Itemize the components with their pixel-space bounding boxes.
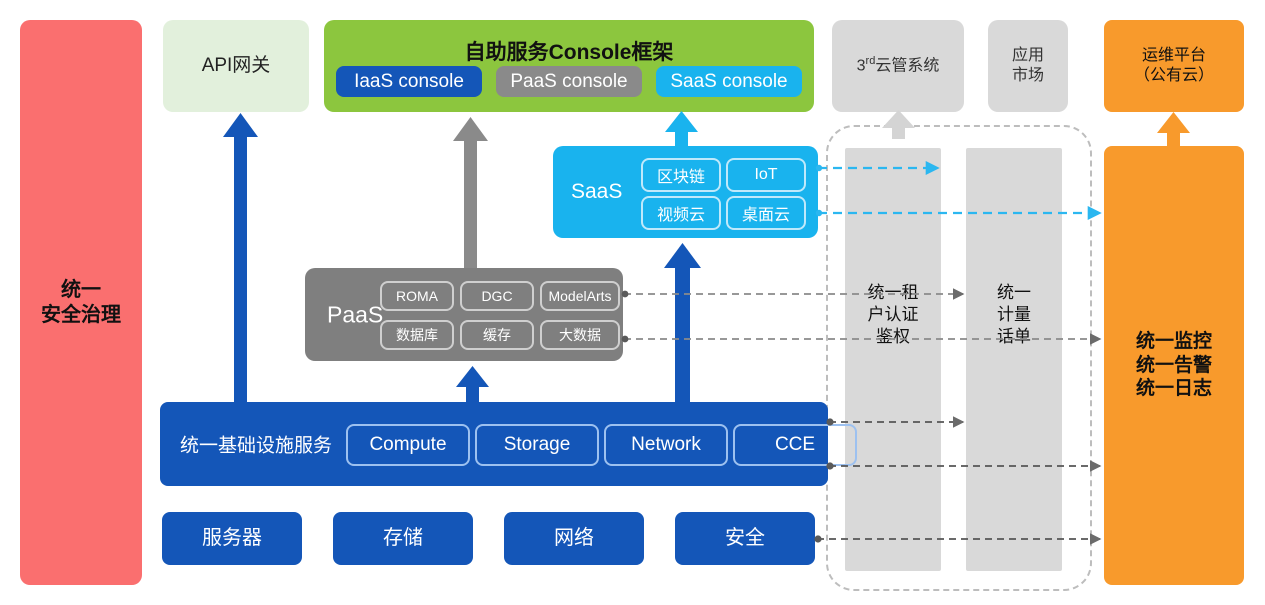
middle-column-metering-billing (966, 148, 1062, 571)
middle-column-metering-billing-label: 统一 计量 话单 (966, 282, 1062, 348)
ops-monitoring-line3: 统一日志 (1136, 377, 1212, 401)
iaas-item-network: Network (604, 424, 728, 466)
paas-item-cache: 缓存 (460, 320, 534, 350)
ops-platform-line1: 运维平台 (1142, 46, 1206, 66)
external-app-market-line2: 市场 (1012, 66, 1044, 86)
ops-monitoring-line2: 统一告警 (1136, 354, 1212, 378)
iaas-item-compute: Compute (346, 424, 470, 466)
hardware-server: 服务器 (162, 512, 302, 565)
ops-platform-box: 运维平台 （公有云） (1104, 20, 1244, 112)
metering-line1: 统一 (966, 282, 1062, 304)
self-service-console-frame: 自助服务Console框架 IaaS console PaaS console … (324, 20, 814, 112)
arrow-paas-to-console (453, 117, 488, 268)
superscript-rd: rd (866, 55, 876, 67)
external-app-market-line1: 应用 (1012, 46, 1044, 66)
paas-item-roma: ROMA (380, 281, 454, 311)
saas-block: SaaS 区块链 IoT 视频云 桌面云 (553, 146, 818, 238)
paas-label: PaaS (327, 301, 383, 328)
chip-iaas-console: IaaS console (336, 66, 482, 97)
external-third-party-cloud-mgmt-label: 3rd云管系统 (857, 55, 940, 76)
ops-platform-line2: （公有云） (1134, 66, 1214, 86)
hardware-security: 安全 (675, 512, 815, 565)
arrow-iaas-to-apigateway (223, 113, 258, 402)
tenant-auth-line1: 统一租 (845, 282, 941, 304)
api-gateway-box: API网关 (163, 20, 309, 112)
paas-item-dgc: DGC (460, 281, 534, 311)
unified-infrastructure-service-label: 统一基础设施服务 (180, 431, 332, 458)
hardware-server-label: 服务器 (202, 526, 262, 551)
middle-column-tenant-auth-label: 统一租 户认证 鉴权 (845, 282, 941, 348)
saas-item-blockchain: 区块链 (641, 158, 721, 192)
iaas-item-cce: CCE (733, 424, 857, 466)
unified-infrastructure-service-block: 统一基础设施服务 Compute Storage Network CCE (160, 402, 828, 486)
tenant-auth-line3: 鉴权 (845, 326, 941, 348)
chip-saas-console: SaaS console (656, 66, 802, 97)
ops-monitoring-panel: 统一监控 统一告警 统一日志 (1104, 146, 1244, 585)
paas-item-database: 数据库 (380, 320, 454, 350)
saas-item-iot: IoT (726, 158, 806, 192)
iaas-item-storage: Storage (475, 424, 599, 466)
metering-line3: 话单 (966, 326, 1062, 348)
hardware-storage: 存储 (333, 512, 473, 565)
ops-monitoring-line1: 统一监控 (1136, 330, 1212, 354)
saas-label: SaaS (571, 180, 622, 204)
external-app-market: 应用 市场 (988, 20, 1068, 112)
middle-column-tenant-auth (845, 148, 941, 571)
paas-block: PaaS ROMA DGC ModelArts 数据库 缓存 大数据 (305, 268, 623, 361)
chip-iaas-console-label: IaaS console (354, 71, 464, 93)
api-gateway-label: API网关 (202, 54, 271, 78)
chip-saas-console-label: SaaS console (670, 71, 787, 93)
security-governance-line1: 统一 (61, 278, 101, 303)
hardware-security-label: 安全 (725, 526, 765, 551)
security-governance-line2: 安全治理 (41, 303, 121, 328)
arrow-saas-to-saas-console (665, 111, 698, 148)
hardware-network-label: 网络 (554, 526, 594, 551)
hardware-storage-label: 存储 (383, 526, 423, 551)
metering-line2: 计量 (966, 304, 1062, 326)
architecture-diagram: 统一 安全治理 API网关 自助服务Console框架 IaaS console… (0, 0, 1265, 605)
paas-item-bigdata: 大数据 (540, 320, 620, 350)
chip-paas-console: PaaS console (496, 66, 642, 97)
chip-paas-console-label: PaaS console (510, 71, 627, 93)
security-governance-panel: 统一 安全治理 (20, 20, 142, 585)
arrow-iaas-to-paas (456, 366, 489, 402)
arrow-ops-panel-to-ops-platform (1157, 112, 1190, 148)
console-frame-title: 自助服务Console框架 (324, 36, 814, 66)
saas-item-video-cloud: 视频云 (641, 196, 721, 230)
arrow-iaas-to-saas (664, 243, 701, 402)
saas-item-desktop-cloud: 桌面云 (726, 196, 806, 230)
hardware-network: 网络 (504, 512, 644, 565)
paas-item-modelarts: ModelArts (540, 281, 620, 311)
external-third-party-cloud-mgmt: 3rd云管系统 (832, 20, 964, 112)
tenant-auth-line2: 户认证 (845, 304, 941, 326)
